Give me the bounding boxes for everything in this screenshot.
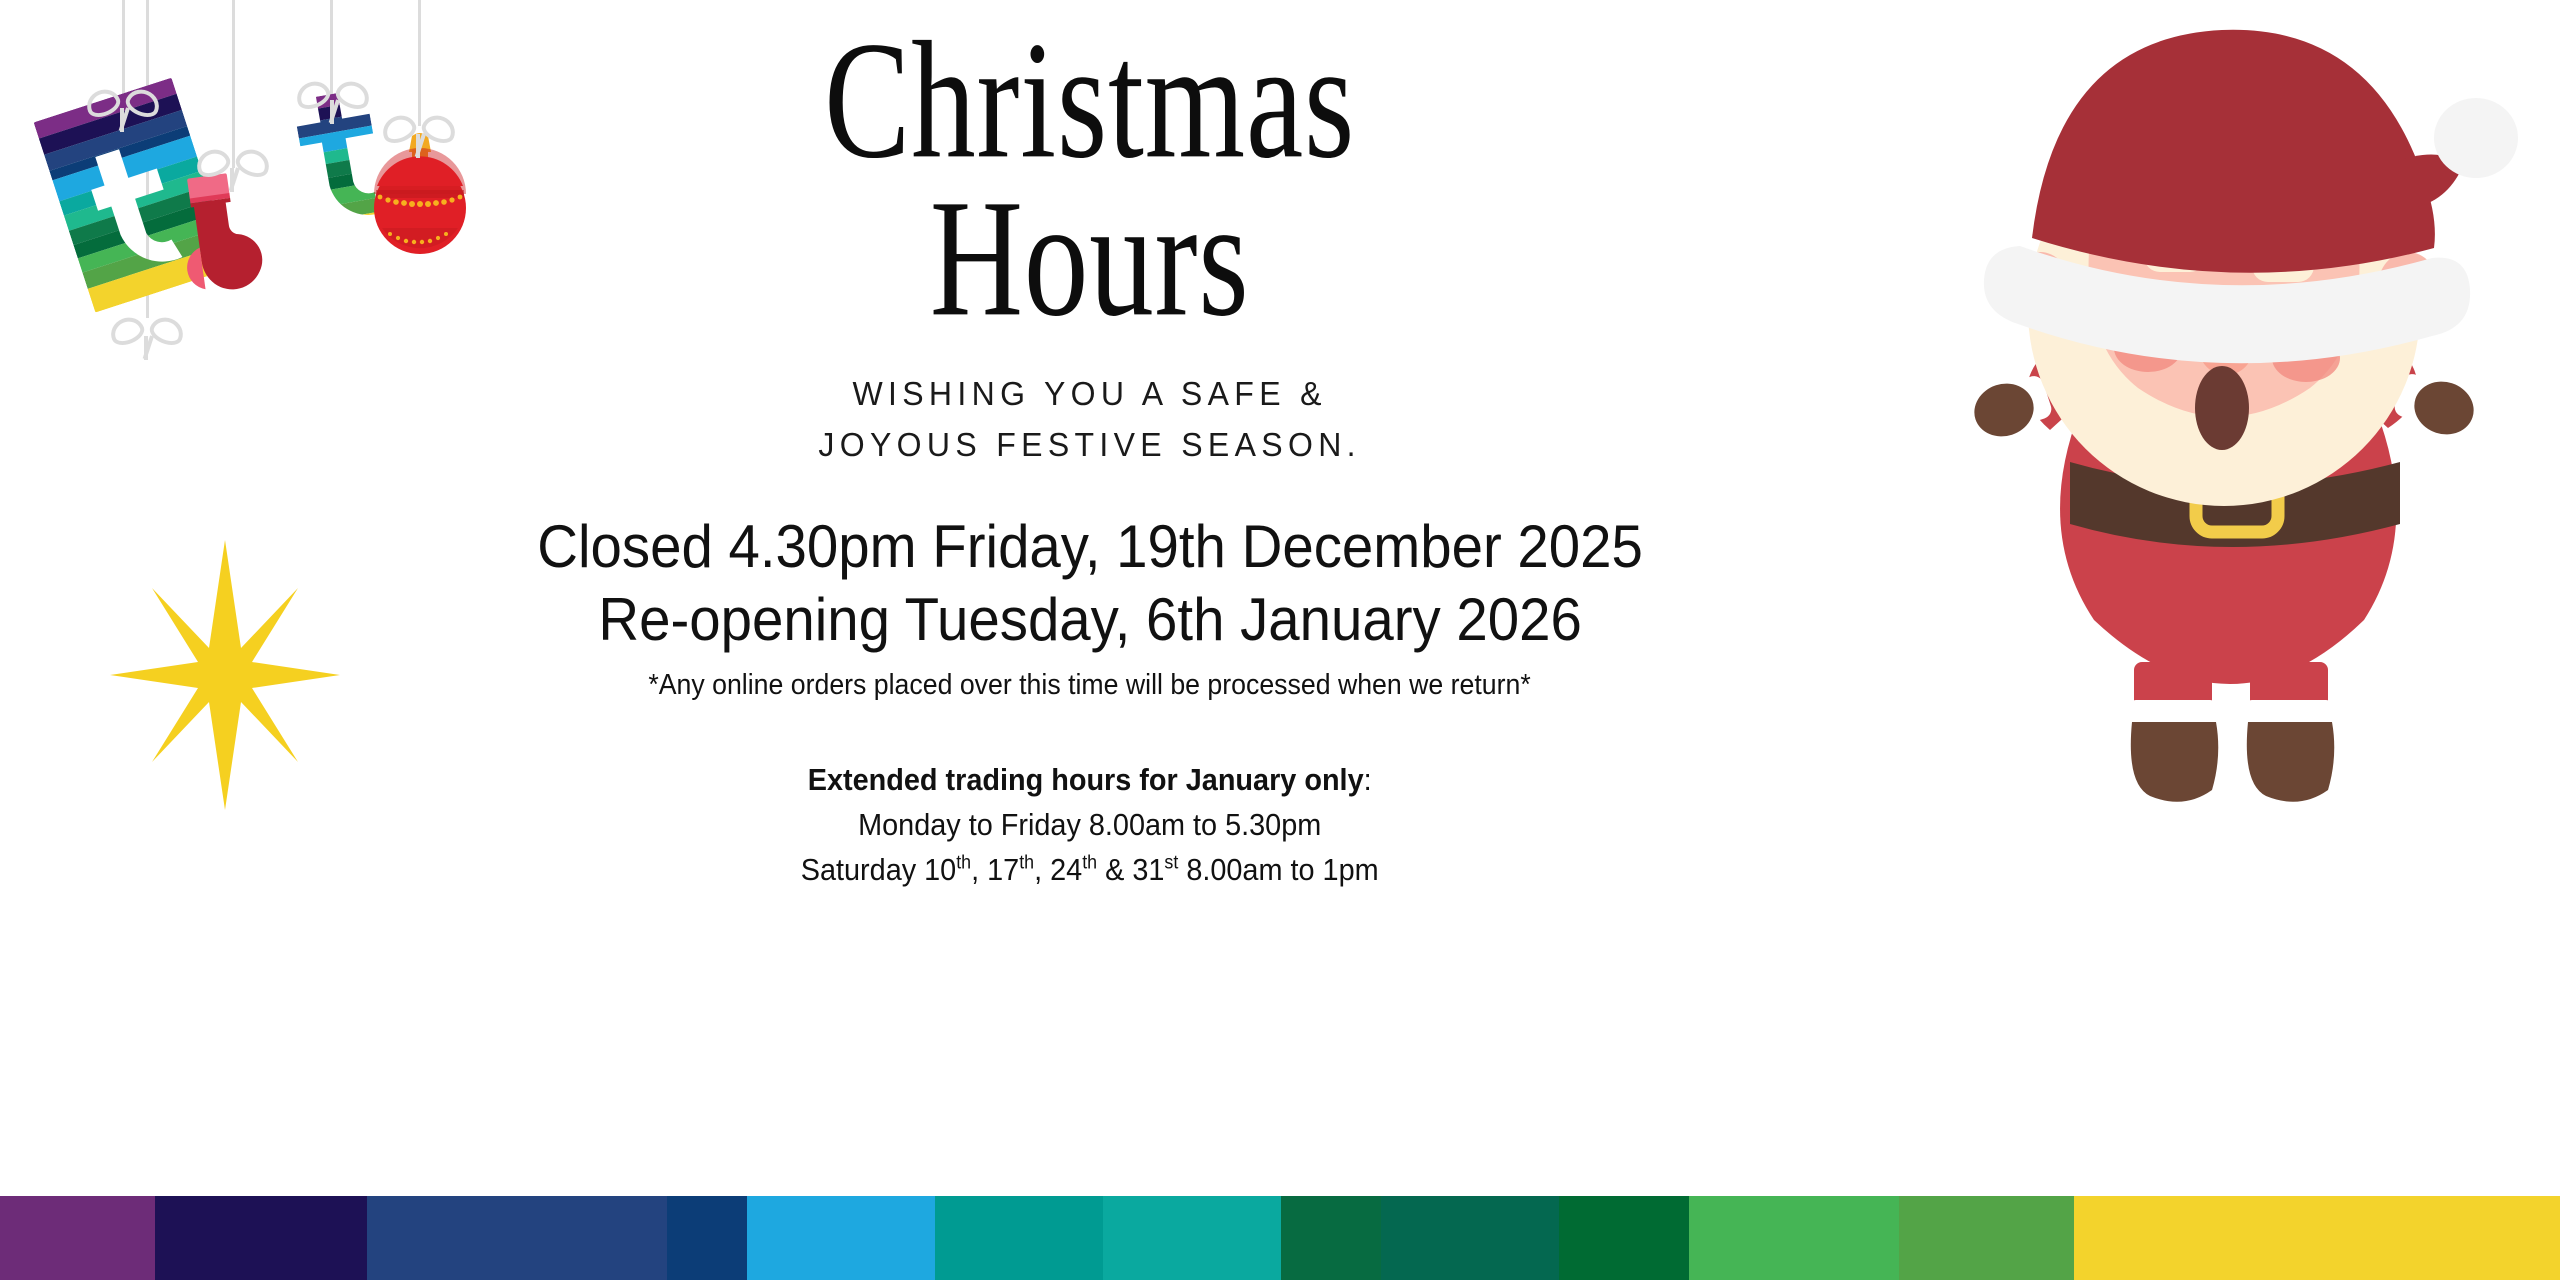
saturday-ordinal-1: th: [957, 852, 972, 873]
content-column: Christmas Hours WISHING YOU A SAFE & JOY…: [430, 0, 1750, 1190]
closed-date-line: Closed 4.30pm Friday, 19th December 2025: [537, 510, 1643, 583]
hanging-string-stocking: [232, 0, 235, 168]
reopen-date-line: Re-opening Tuesday, 6th January 2026: [598, 583, 1582, 656]
subtitle-line-1: WISHING YOU A SAFE &: [819, 368, 1361, 419]
saturday-ordinal-2: th: [1020, 852, 1035, 873]
rainbow-bar-segment: [1899, 1196, 2074, 1280]
extended-hours-colon: :: [1364, 762, 1372, 797]
online-orders-note: *Any online orders placed over this time…: [649, 669, 1531, 702]
rainbow-bar-segment: [1381, 1196, 1559, 1280]
saturday-ordinal-4: st: [1165, 852, 1179, 873]
page-title: Christmas Hours: [825, 22, 1356, 338]
bow-letter-t: [296, 78, 370, 122]
bow-gift-tag: [86, 86, 160, 130]
saturday-mid-1: , 17: [971, 852, 1019, 887]
subtitle: WISHING YOU A SAFE & JOYOUS FESTIVE SEAS…: [819, 368, 1361, 470]
rainbow-bar-segment: [1559, 1196, 1689, 1280]
rainbow-bar-segment: [1689, 1196, 1899, 1280]
rainbow-bar-segment: [1281, 1196, 1381, 1280]
title-line-2: Hours: [825, 180, 1356, 338]
rainbow-footer-bar: [0, 1196, 2560, 1280]
saturday-prefix: Saturday 10: [801, 852, 956, 887]
bow-stocking: [196, 146, 270, 190]
saturday-suffix: 8.00am to 1pm: [1179, 852, 1379, 887]
eight-point-star-icon: [100, 530, 350, 820]
saturday-ordinal-3: th: [1083, 852, 1098, 873]
extended-hours-block: Extended trading hours for January only:…: [801, 758, 1379, 893]
hanging-string-bauble: [418, 0, 421, 126]
weekday-hours-line: Monday to Friday 8.00am to 5.30pm: [801, 803, 1379, 848]
christmas-hours-banner: Christmas Hours WISHING YOU A SAFE & JOY…: [0, 0, 2560, 1280]
star-decoration: [100, 530, 350, 825]
rainbow-bar-segment: [367, 1196, 667, 1280]
extended-hours-heading-text: Extended trading hours for January only: [808, 762, 1364, 797]
rainbow-bar-segment: [667, 1196, 747, 1280]
saturday-mid-2: , 24: [1034, 852, 1082, 887]
bow-star: [110, 314, 184, 358]
rainbow-bar-segment: [0, 1196, 155, 1280]
rainbow-bar-segment: [2074, 1196, 2560, 1280]
rainbow-bar-segment: [1103, 1196, 1281, 1280]
saturday-hours-line: Saturday 10th, 17th, 24th & 31st 8.00am …: [801, 848, 1379, 893]
saturday-mid-3: & 31: [1097, 852, 1164, 887]
rainbow-bar-segment: [155, 1196, 367, 1280]
subtitle-line-2: JOYOUS FESTIVE SEASON.: [819, 419, 1361, 470]
rainbow-bar-segment: [747, 1196, 935, 1280]
extended-hours-heading: Extended trading hours for January only:: [801, 758, 1379, 803]
santa-illustration: [1900, 10, 2540, 915]
santa-icon: [1900, 10, 2540, 910]
rainbow-bar-segment: [935, 1196, 1103, 1280]
